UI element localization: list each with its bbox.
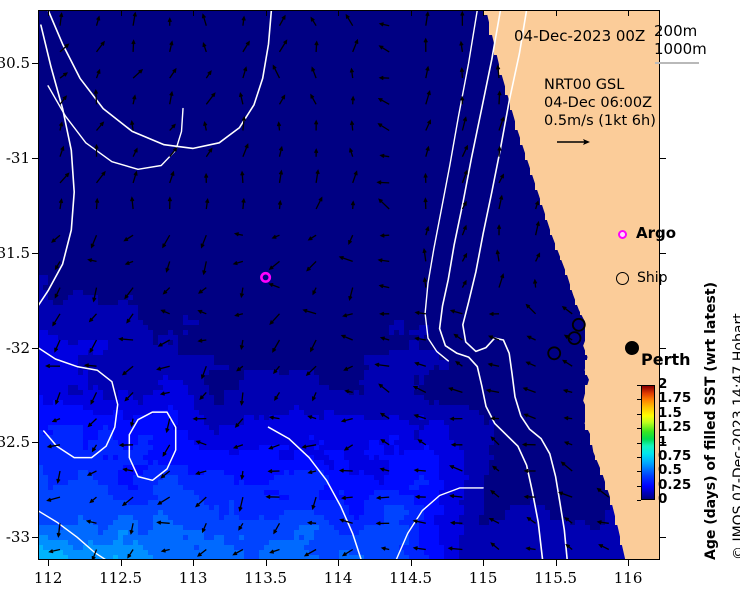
x-axis-tick-top: [266, 10, 267, 16]
current-vector-arrow-icon: [380, 23, 389, 26]
current-vector-arrow-icon: [128, 550, 133, 558]
current-vector-arrow-icon: [236, 313, 243, 316]
current-vector-arrow-icon: [344, 314, 353, 317]
x-axis-tick-top: [48, 10, 49, 16]
current-vector-arrow-icon: [377, 522, 389, 525]
current-vector-arrow-icon: [87, 520, 96, 523]
colorbar-tick: [637, 471, 641, 472]
current-vector-arrow-icon: [381, 337, 389, 340]
current-vector-arrow-icon: [239, 497, 243, 510]
current-vector-arrow-icon: [279, 147, 282, 156]
current-vector-arrow-icon: [234, 445, 243, 448]
y-axis-label: -31.5: [0, 244, 30, 262]
current-vector-arrow-icon: [162, 310, 170, 314]
current-vector-arrow-icon: [97, 70, 100, 78]
current-vector-arrow-icon: [242, 17, 245, 26]
current-vector-arrow-icon: [197, 441, 207, 445]
current-vector-arrow-icon: [270, 261, 280, 269]
current-vector-arrow-icon: [534, 280, 537, 287]
current-vector-arrow-icon: [47, 364, 61, 367]
current-vector-arrow-icon: [426, 227, 429, 235]
current-vector-arrow-icon: [57, 523, 60, 536]
current-vector-arrow-icon: [127, 314, 133, 323]
x-axis-tick-top: [411, 10, 412, 16]
current-vector-arrow-icon: [60, 174, 69, 183]
current-vector-arrow-icon: [565, 417, 572, 420]
current-vector-arrow-icon: [499, 118, 504, 131]
current-vector-arrow-icon: [161, 392, 169, 395]
current-vector-arrow-icon: [88, 471, 96, 475]
current-vector-arrow-icon: [158, 366, 170, 370]
current-vector-arrow-icon: [197, 471, 207, 474]
x-axis-label: 113.5: [236, 569, 296, 587]
colorbar-tick: [637, 486, 641, 487]
current-vector-arrow-icon: [315, 42, 318, 52]
y-axis-tick: [32, 158, 38, 159]
current-vector-arrow-icon: [566, 545, 572, 550]
current-vector-arrow-icon: [278, 123, 281, 131]
colorbar-tick: [637, 428, 641, 429]
current-vector-arrow-icon: [168, 198, 171, 209]
current-vector-arrow-icon: [340, 469, 352, 472]
current-vector-arrow-icon: [563, 361, 572, 367]
x-axis-label: 112.5: [91, 569, 151, 587]
current-vector-arrow-icon: [462, 281, 466, 287]
ship-position-marker-icon: [573, 319, 585, 331]
current-vector-arrow-icon: [133, 13, 136, 26]
current-vector-arrow-icon: [426, 13, 429, 26]
current-vector-arrow-icon: [315, 121, 318, 130]
current-vector-arrow-icon: [170, 148, 177, 157]
current-vector-arrow-icon: [346, 390, 353, 393]
perth-city-label: Perth: [641, 350, 691, 369]
y-axis-tick-right: [660, 158, 666, 159]
current-vector-arrow-icon: [345, 445, 353, 450]
current-vector-arrow-icon: [166, 419, 170, 432]
current-vector-arrow-icon: [59, 200, 62, 209]
x-axis-tick: [48, 560, 49, 566]
current-vector-arrow-icon: [199, 311, 207, 314]
bathymetry-contour: [396, 488, 483, 560]
current-vector-arrow-icon: [598, 521, 609, 524]
current-vector-arrow-icon: [316, 198, 322, 209]
current-vector-arrow-icon: [120, 338, 134, 341]
x-axis-tick: [121, 560, 122, 566]
current-vector-arrow-icon: [125, 392, 133, 400]
current-vector-arrow-icon: [270, 416, 279, 419]
current-vector-arrow-icon: [456, 362, 462, 366]
current-vector-arrow-icon: [562, 462, 572, 471]
current-vector-arrow-icon: [489, 363, 499, 366]
current-vector-arrow-icon: [240, 288, 243, 297]
current-vector-arrow-icon: [305, 550, 316, 556]
current-vector-arrow-icon: [125, 235, 134, 240]
current-vector-arrow-icon: [131, 122, 134, 131]
current-vector-arrow-icon: [499, 175, 503, 183]
x-axis-tick-top: [628, 10, 629, 16]
current-vector-arrow-icon: [353, 172, 357, 183]
current-vector-arrow-icon: [309, 471, 316, 474]
current-vector-arrow-icon: [349, 288, 353, 300]
current-vector-arrow-icon: [525, 469, 536, 472]
current-vector-arrow-icon: [239, 523, 243, 529]
current-vector-arrow-icon: [203, 15, 207, 26]
current-vector-arrow-icon: [491, 491, 499, 497]
current-vector-arrow-icon: [170, 172, 174, 183]
x-axis-label: 116: [598, 569, 658, 587]
current-vector-arrow-icon: [234, 550, 243, 555]
current-vector-arrow-icon: [424, 199, 427, 209]
current-vector-arrow-icon: [236, 419, 243, 427]
current-vector-arrow-icon: [379, 385, 389, 393]
current-vector-arrow-icon: [498, 92, 501, 104]
current-vector-arrow-icon: [205, 174, 208, 183]
current-vector-arrow-icon: [131, 419, 134, 426]
current-vector-arrow-icon: [493, 467, 499, 472]
current-vector-arrow-icon: [600, 545, 609, 550]
current-vector-arrow-icon: [497, 66, 500, 78]
map-figure: 112112.5113113.5114114.5115115.5116-30.5…: [0, 0, 740, 592]
velocity-scale-arrow-icon: [556, 137, 590, 147]
current-vector-arrow-icon: [424, 174, 427, 183]
current-vector-arrow-icon: [97, 172, 105, 183]
x-axis-tick: [556, 560, 557, 566]
current-vector-field: [47, 12, 609, 559]
current-vector-arrow-icon: [275, 392, 280, 399]
current-vector-arrow-icon: [381, 468, 389, 471]
current-vector-arrow-icon: [313, 288, 316, 294]
current-vector-arrow-icon: [523, 443, 535, 446]
current-vector-arrow-icon: [57, 471, 60, 482]
current-time-label: 04-Dec 06:00Z: [544, 95, 652, 111]
current-vector-arrow-icon: [416, 311, 426, 314]
current-vector-arrow-icon: [376, 363, 389, 366]
current-vector-arrow-icon: [426, 147, 429, 157]
bathymetry-1000m-label: 1000m: [654, 40, 707, 58]
y-axis-tick-right: [660, 348, 666, 349]
current-vector-arrow-icon: [166, 261, 170, 271]
current-vector-arrow-icon: [449, 547, 462, 550]
current-vector-arrow-icon: [452, 443, 462, 446]
current-vector-arrow-icon: [280, 16, 285, 26]
bathymetry-contour: [48, 86, 183, 169]
bathymetry-rule: [655, 62, 699, 64]
current-vector-arrow-icon: [564, 390, 572, 393]
current-vector-arrow-icon: [379, 199, 389, 209]
current-vector-arrow-icon: [55, 340, 60, 351]
current-vector-arrow-icon: [423, 250, 426, 262]
current-vector-arrow-icon: [278, 201, 281, 209]
x-axis-tick: [338, 560, 339, 566]
argo-marker-icon: [618, 230, 627, 239]
current-vector-arrow-icon: [241, 471, 244, 479]
current-vector-arrow-icon: [279, 171, 282, 183]
current-vector-arrow-icon: [158, 497, 169, 504]
current-vector-arrow-icon: [343, 550, 353, 556]
current-vector-arrow-icon: [203, 44, 206, 52]
current-vector-arrow-icon: [499, 275, 504, 288]
x-axis-tick: [193, 560, 194, 566]
y-axis-tick: [32, 442, 38, 443]
current-vector-arrow-icon: [462, 254, 466, 261]
current-vector-arrow-icon: [379, 99, 389, 105]
current-vector-arrow-icon: [93, 288, 97, 301]
current-vector-arrow-icon: [234, 261, 243, 264]
current-vector-arrow-icon: [455, 335, 463, 340]
current-vector-arrow-icon: [201, 235, 206, 247]
current-vector-arrow-icon: [426, 92, 430, 105]
current-vector-arrow-icon: [313, 392, 317, 400]
current-vector-arrow-icon: [343, 496, 353, 499]
current-vector-arrow-icon: [528, 518, 536, 524]
current-vector-arrow-icon: [53, 419, 60, 422]
current-vector-arrow-icon: [424, 279, 427, 288]
current-vector-arrow-icon: [97, 17, 100, 26]
current-vector-arrow-icon: [451, 495, 463, 498]
current-vector-arrow-icon: [56, 261, 60, 268]
current-vector-arrow-icon: [416, 337, 426, 340]
x-axis-tick-top: [338, 10, 339, 16]
current-vector-arrow-icon: [536, 202, 539, 209]
current-vector-arrow-icon: [206, 149, 211, 157]
y-axis-tick: [32, 63, 38, 64]
current-vector-arrow-icon: [60, 147, 64, 157]
date-stamp: 04-Dec-2023 00Z: [514, 27, 645, 45]
current-vector-arrow-icon: [307, 366, 316, 375]
bathymetry-contour: [38, 348, 118, 458]
current-vector-arrow-icon: [123, 366, 133, 374]
current-vector-arrow-icon: [536, 222, 540, 235]
current-vector-arrow-icon: [133, 96, 136, 104]
y-axis-label: -32.5: [0, 433, 30, 451]
current-vector-arrow-icon: [309, 416, 317, 419]
current-vector-arrow-icon: [416, 495, 426, 498]
current-vector-arrow-icon: [462, 118, 466, 131]
current-vector-arrow-icon: [243, 42, 249, 52]
current-vector-arrow-icon: [90, 340, 96, 352]
current-vector-arrow-icon: [311, 95, 316, 104]
current-vector-arrow-icon: [381, 312, 390, 315]
current-vector-arrow-icon: [133, 172, 137, 183]
current-vector-arrow-icon: [60, 14, 63, 26]
current-vector-arrow-icon: [350, 149, 353, 157]
current-vector-arrow-icon: [194, 417, 206, 420]
current-vector-arrow-icon: [243, 68, 247, 78]
x-axis-tick-top: [483, 10, 484, 16]
colorbar-tick-label: 1.75: [658, 392, 691, 406]
current-vector-arrow-icon: [168, 19, 171, 26]
current-vector-arrow-icon: [203, 523, 207, 532]
current-vector-arrow-icon: [565, 518, 572, 523]
current-vector-arrow-icon: [492, 437, 500, 445]
current-vector-arrow-icon: [312, 68, 316, 78]
current-vector-arrow-icon: [416, 363, 426, 367]
y-axis-tick-right: [660, 537, 666, 538]
perth-city-marker-icon: [625, 341, 639, 355]
current-vector-arrow-icon: [527, 305, 536, 314]
current-vector-arrow-icon: [123, 497, 133, 505]
current-vector-arrow-icon: [351, 202, 354, 209]
current-vector-arrow-icon: [60, 73, 67, 78]
current-scale-label: 0.5m/s (1kt 6h): [544, 113, 656, 129]
current-vector-arrow-icon: [163, 445, 169, 456]
current-vector-arrow-icon: [311, 18, 316, 26]
current-vector-arrow-icon: [270, 284, 280, 288]
current-vector-arrow-icon: [56, 392, 60, 403]
x-axis-tick-top: [193, 10, 194, 16]
bathymetry-200m-label: 200m: [654, 22, 697, 40]
current-vector-arrow-icon: [380, 46, 389, 52]
current-vector-arrow-icon: [527, 547, 536, 550]
current-vector-arrow-icon: [274, 523, 280, 533]
current-vector-arrow-icon: [90, 314, 97, 322]
current-vector-arrow-icon: [351, 97, 354, 104]
current-vector-arrow-icon: [273, 235, 280, 238]
current-vector-arrow-icon: [426, 67, 429, 78]
current-vector-arrow-icon: [414, 547, 426, 550]
current-vector-arrow-icon: [419, 440, 426, 445]
current-vector-arrow-icon: [490, 312, 499, 315]
current-vector-arrow-icon: [377, 496, 389, 499]
current-vector-arrow-icon: [240, 94, 243, 105]
current-vector-arrow-icon: [424, 39, 427, 52]
current-vector-arrow-icon: [240, 340, 243, 349]
current-vector-arrow-icon: [90, 497, 96, 502]
current-vector-arrow-icon: [55, 288, 60, 298]
x-axis-label: 114.5: [381, 569, 441, 587]
colorbar-tick: [637, 500, 641, 501]
current-vector-arrow-icon: [280, 96, 285, 105]
current-vector-arrow-icon: [524, 388, 536, 393]
current-vector-arrow-icon: [451, 310, 462, 314]
current-vector-arrow-icon: [199, 339, 206, 342]
credit-text: © IMOS 07-Dec-2023 14:47 Hobart: [731, 313, 740, 560]
current-vector-arrow-icon: [309, 521, 317, 524]
current-vector-arrow-icon: [267, 495, 280, 498]
current-vector-arrow-icon: [598, 489, 609, 497]
current-vector-arrow-icon: [202, 366, 207, 378]
current-vector-arrow-icon: [159, 340, 170, 346]
colorbar-title: Age (days) of filled SST (wrt latest): [703, 282, 719, 560]
current-vector-arrow-icon: [527, 362, 536, 366]
argo-legend-label: Argo: [636, 224, 676, 242]
current-vector-arrow-icon: [381, 154, 389, 157]
current-vector-arrow-icon: [307, 261, 316, 270]
ship-position-marker-icon: [548, 347, 560, 359]
current-vector-arrow-icon: [316, 171, 319, 183]
current-vector-arrow-icon: [271, 550, 280, 554]
y-axis-label: -33: [0, 528, 30, 546]
current-vector-arrow-icon: [382, 440, 390, 445]
current-vector-arrow-icon: [311, 340, 316, 351]
current-vector-arrow-icon: [349, 235, 353, 243]
current-vector-arrow-icon: [499, 196, 503, 209]
colorbar-tick: [637, 399, 641, 400]
current-vector-arrow-icon: [414, 520, 426, 523]
current-vector-arrow-icon: [525, 414, 536, 419]
current-vector-arrow-icon: [460, 42, 463, 52]
current-vector-arrow-icon: [304, 310, 316, 314]
current-vector-arrow-icon: [60, 123, 63, 131]
current-vector-arrow-icon: [378, 181, 389, 184]
current-vector-arrow-icon: [203, 261, 207, 273]
current-vector-arrow-icon: [426, 121, 431, 131]
current-vector-arrow-icon: [273, 340, 280, 352]
current-vector-arrow-icon: [450, 388, 463, 393]
current-vector-arrow-icon: [133, 149, 137, 157]
x-axis-tick: [411, 560, 412, 566]
current-vector-arrow-icon: [48, 497, 60, 501]
bathymetry-contour: [440, 10, 543, 560]
current-vector-arrow-icon: [162, 549, 170, 552]
current-vector-arrow-icon: [124, 468, 133, 471]
colorbar-tick: [637, 414, 641, 415]
y-axis-tick-right: [660, 253, 666, 254]
current-vector-arrow-icon: [565, 442, 572, 445]
current-vector-arrow-icon: [280, 41, 287, 52]
current-vector-arrow-icon: [342, 419, 352, 422]
current-vector-arrow-icon: [270, 314, 279, 324]
ship-marker-icon: [616, 272, 629, 285]
current-vector-arrow-icon: [96, 199, 99, 209]
current-vector-arrow-icon: [487, 389, 499, 392]
current-vector-arrow-icon: [206, 93, 214, 104]
x-axis-tick: [628, 560, 629, 566]
x-axis-label: 112: [18, 569, 78, 587]
current-vector-arrow-icon: [528, 336, 536, 340]
current-vector-arrow-icon: [126, 261, 133, 264]
current-vector-arrow-icon: [170, 69, 176, 78]
current-vector-arrow-icon: [460, 69, 463, 79]
current-vector-arrow-icon: [89, 259, 97, 262]
current-vector-arrow-icon: [451, 466, 463, 471]
current-vector-arrow-icon: [242, 199, 245, 209]
current-vector-arrow-icon: [50, 550, 60, 553]
current-vector-arrow-icon: [461, 12, 464, 25]
current-vector-arrow-icon: [380, 76, 389, 79]
colorbar-tick: [637, 443, 641, 444]
current-vector-arrow-icon: [415, 415, 426, 419]
current-vector-arrow-icon: [559, 492, 572, 497]
colorbar: [641, 385, 655, 500]
current-vector-arrow-icon: [89, 419, 97, 427]
current-vector-arrow-icon: [351, 122, 354, 131]
current-vector-arrow-icon: [340, 257, 353, 262]
current-vector-arrow-icon: [97, 123, 104, 131]
current-vector-arrow-icon: [93, 445, 97, 451]
current-vector-arrow-icon: [243, 145, 248, 157]
current-vector-arrow-icon: [381, 414, 389, 419]
x-axis-label: 115: [453, 569, 513, 587]
current-vector-arrow-icon: [312, 497, 316, 509]
current-vector-arrow-icon: [414, 387, 426, 393]
y-axis-label: -32: [0, 339, 30, 357]
current-vector-arrow-icon: [235, 233, 243, 236]
current-vector-arrow-icon: [452, 521, 463, 524]
current-model-label: NRT00 GSL: [544, 77, 624, 93]
current-vector-arrow-icon: [315, 150, 318, 157]
current-vector-arrow-icon: [381, 234, 389, 237]
current-vector-arrow-icon: [492, 417, 499, 420]
current-vector-arrow-icon: [237, 366, 243, 370]
current-vector-arrow-icon: [462, 146, 467, 157]
current-vector-arrow-icon: [125, 288, 133, 299]
current-vector-arrow-icon: [170, 42, 173, 52]
current-vector-arrow-icon: [490, 519, 499, 524]
current-vector-arrow-icon: [170, 92, 173, 104]
current-vector-arrow-icon: [163, 235, 170, 247]
colorbar-tick-label: 0.5: [658, 464, 682, 478]
